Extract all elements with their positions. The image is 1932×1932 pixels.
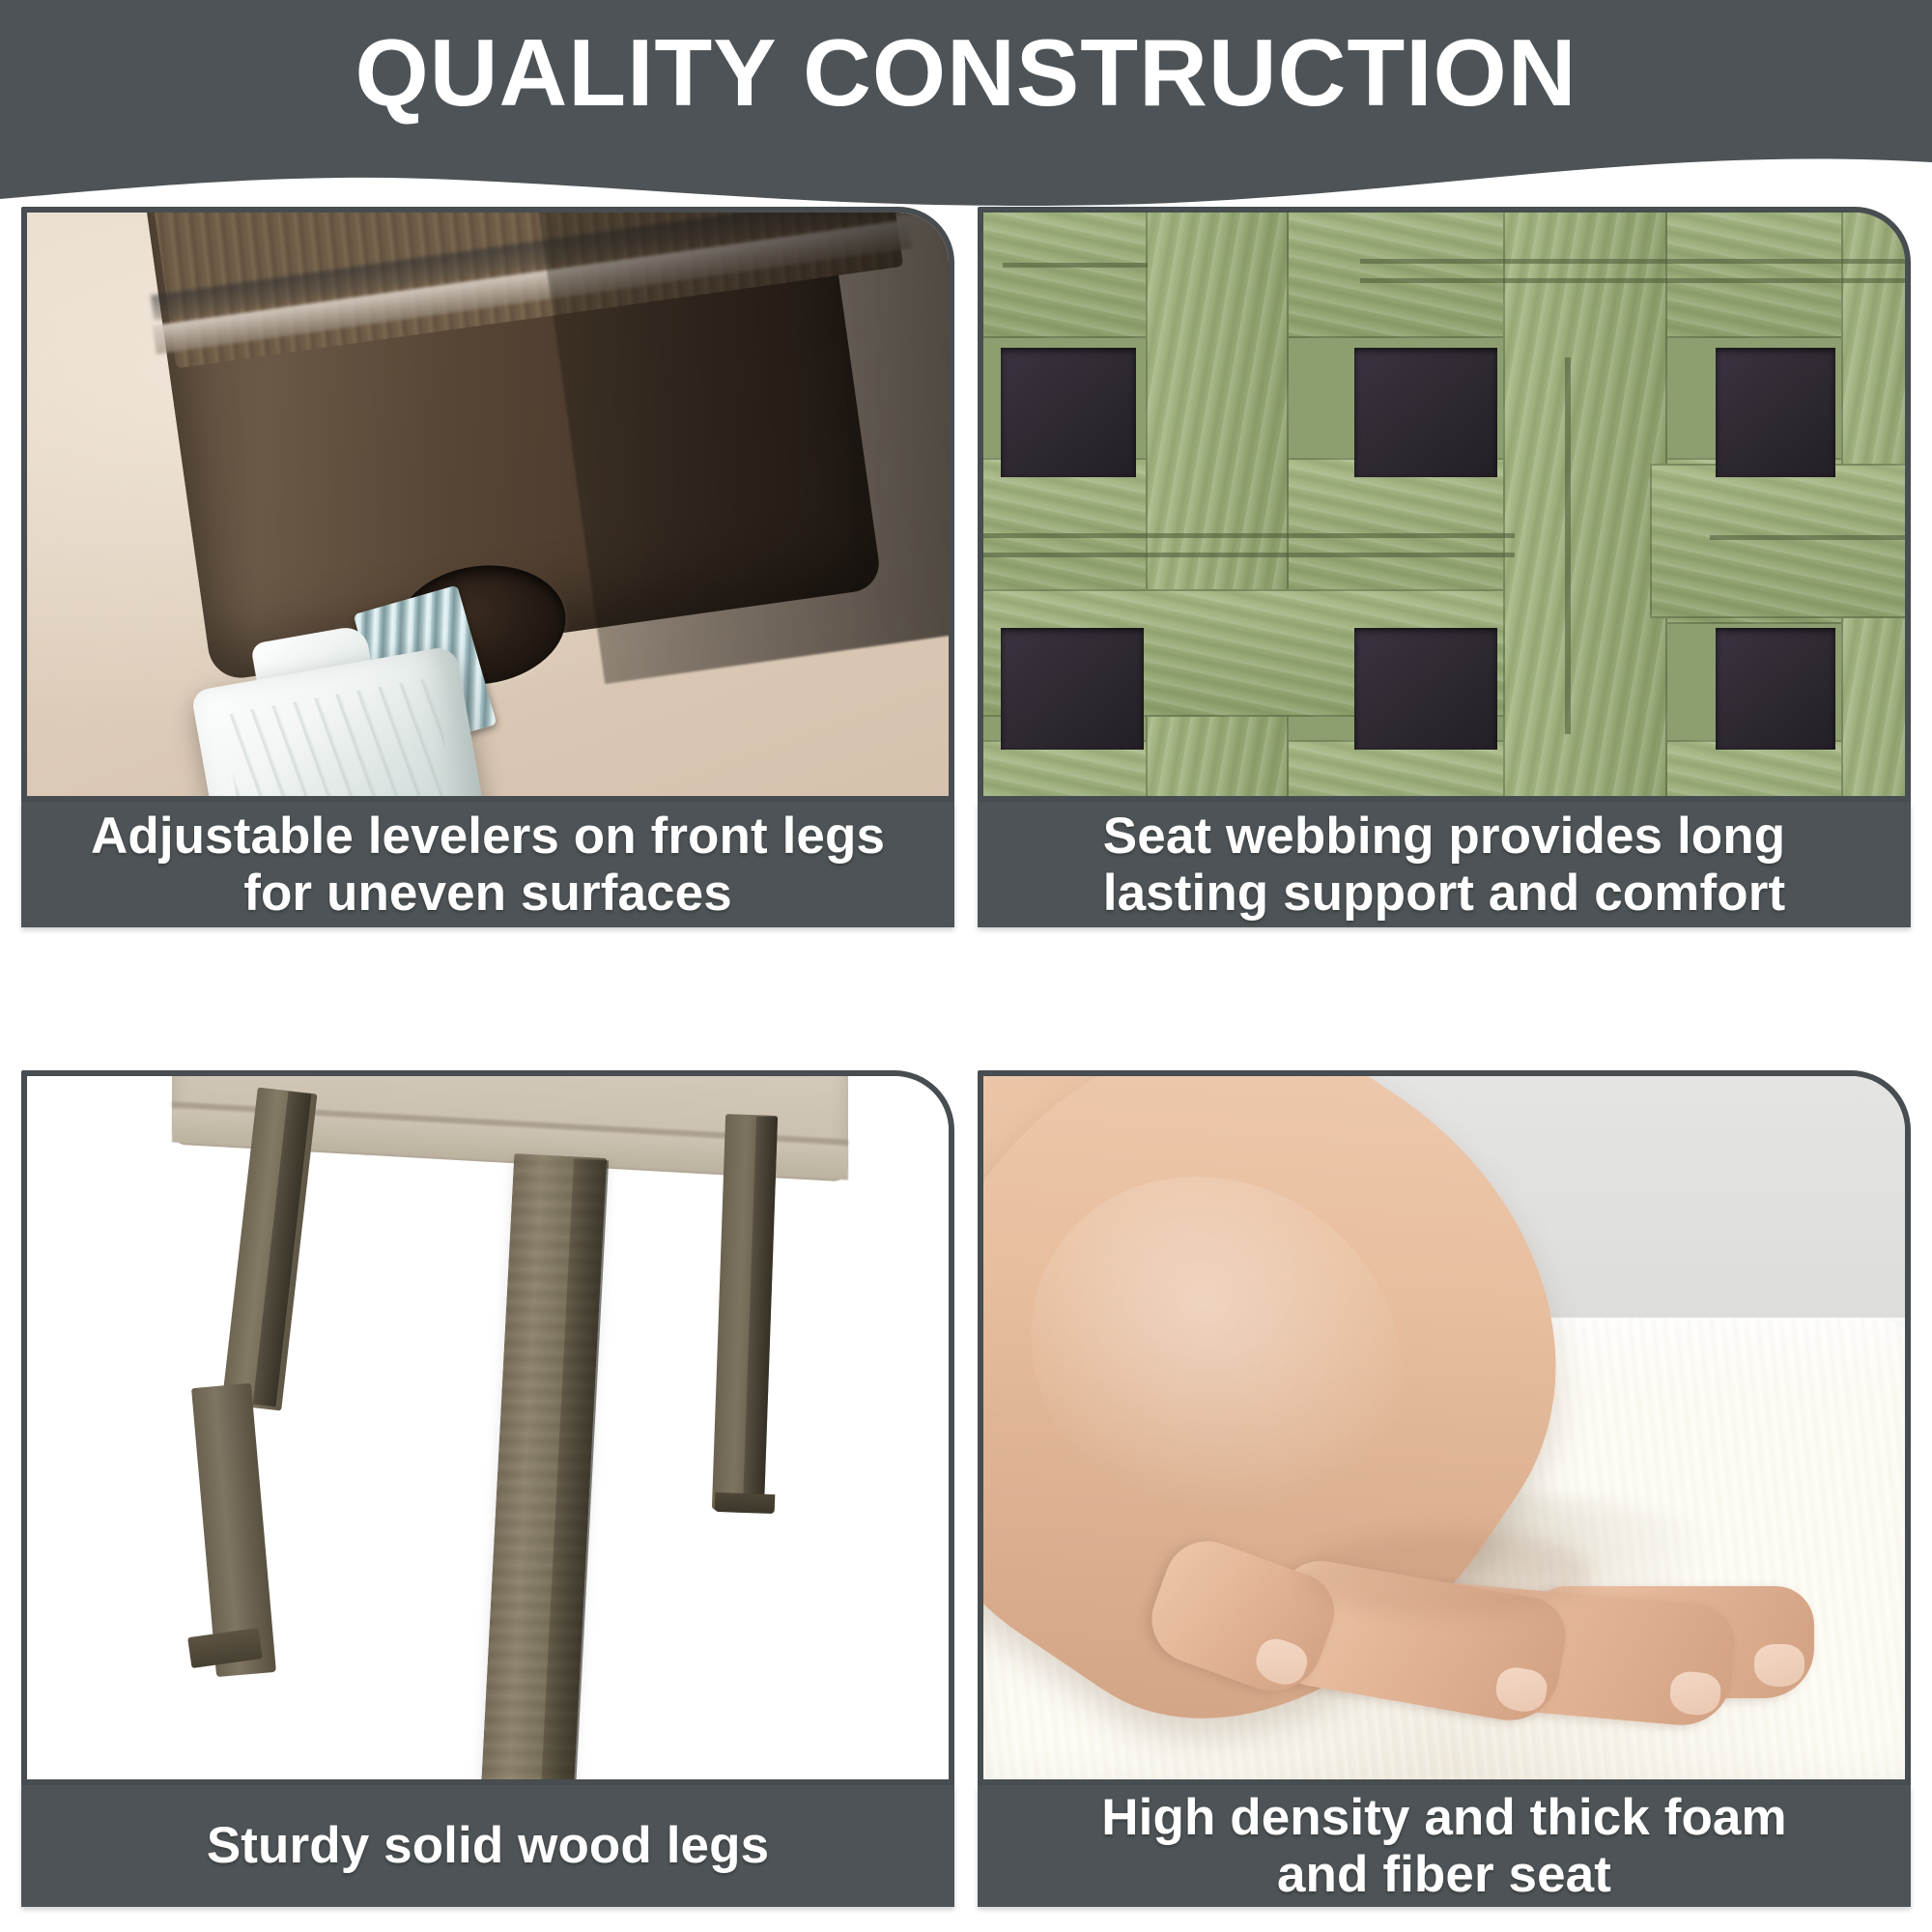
webbing-gap-square [1716,348,1835,477]
webbing-seam [983,553,1515,557]
wood-leg-shadow-side [535,213,949,684]
photo-high-density-foam [983,1076,1905,1779]
photo-seat-webbing [983,213,1905,796]
webbing-seam [1565,357,1571,734]
caption-bar-webbing: Seat webbing provides long lasting suppo… [978,802,1911,927]
caption-line-1: High density and thick foam [1101,1789,1786,1846]
caption-line-1: Adjustable levelers on front legs [91,808,885,865]
webbing-seam [983,533,1515,538]
caption-line-1: Sturdy solid wood legs [207,1817,769,1874]
caption-bar-levelers: Adjustable levelers on front legs for un… [21,802,954,927]
fingernail [1754,1644,1804,1687]
webbing-strap-vertical [1503,213,1667,796]
caption-line-2: and fiber seat [1277,1846,1611,1903]
fingernail [1668,1670,1722,1717]
caption-bar-foam: High density and thick foam and fiber se… [978,1785,1911,1907]
page-title: QUALITY CONSTRUCTION [0,25,1932,120]
webbing-seam [1710,535,1905,540]
header-banner: QUALITY CONSTRUCTION [0,0,1932,213]
caption-text-webbing: Seat webbing provides long lasting suppo… [1086,808,1803,923]
wood-leg-back-right-foot [715,1492,776,1514]
webbing-gap-square [1354,348,1497,477]
fingernail [1492,1664,1549,1715]
webbing-weave-pattern [983,213,1905,796]
caption-text-foam: High density and thick foam and fiber se… [1084,1789,1804,1904]
feature-panel-levelers [21,207,954,802]
infographic-root: QUALITY CONSTRUCTION Adjustable levelers… [0,0,1932,1932]
webbing-gap-square [1001,628,1144,750]
photo-solid-wood-legs [27,1076,949,1779]
photo-adjustable-leveler [27,213,949,796]
webbing-strap-horizontal [983,213,1905,338]
caption-line-2: for uneven surfaces [243,865,732,922]
webbing-seam [1360,278,1905,283]
caption-text-levelers: Adjustable levelers on front legs for un… [73,808,902,923]
webbing-strap-horizontal [1650,464,1905,618]
caption-line-2: lasting support and comfort [1103,865,1785,922]
webbing-gap-square [1716,628,1835,750]
webbing-gap-square [1354,628,1497,750]
knuckle-shading [1302,1530,1592,1617]
caption-line-1: Seat webbing provides long [1103,808,1785,865]
caption-text-wood-legs: Sturdy solid wood legs [189,1817,786,1874]
feature-panel-wood-legs [21,1070,954,1785]
feature-panel-webbing [978,207,1911,802]
webbing-gap-square [1001,348,1136,477]
webbing-seam [1360,259,1905,264]
webbing-seam [1003,263,1148,268]
feature-panel-foam [978,1070,1911,1785]
caption-bar-wood-legs: Sturdy solid wood legs [21,1785,954,1907]
